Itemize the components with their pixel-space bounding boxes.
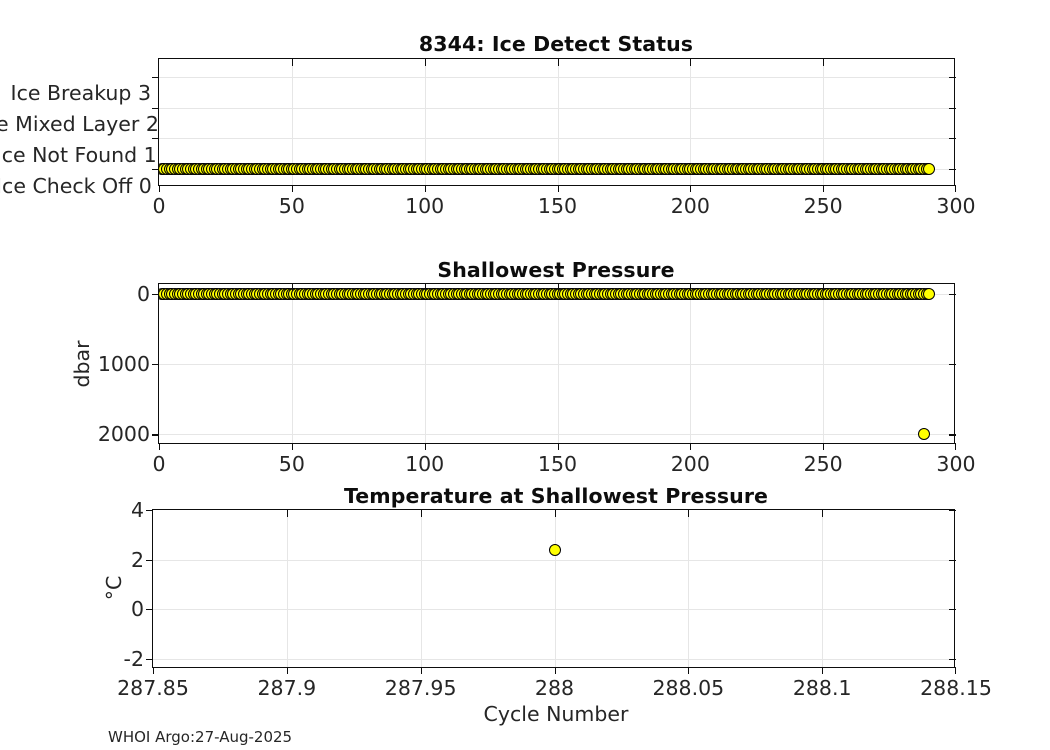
xtick-mark <box>153 667 154 674</box>
ytick-mark <box>152 364 159 365</box>
subplot3-yaxis-title: °C <box>102 576 126 601</box>
xtick-label: 250 <box>804 452 843 476</box>
ytick-mark <box>152 434 159 435</box>
xtick-mark <box>425 443 426 450</box>
xtick-mark <box>558 185 559 192</box>
subplot1-title: 8344: Ice Detect Status <box>419 32 693 56</box>
data-point-marker <box>923 163 935 175</box>
xtick-mark <box>690 59 691 66</box>
xtick-label: 287.95 <box>385 676 457 700</box>
xtick-label: 50 <box>279 452 305 476</box>
ytick-mark <box>949 108 956 109</box>
xtick-label: 200 <box>671 194 710 218</box>
xtick-mark <box>690 443 691 450</box>
xtick-label: 50 <box>279 194 305 218</box>
xtick-label: 0 <box>152 194 165 218</box>
xtick-mark <box>823 59 824 66</box>
ytick-label: -2 <box>124 647 144 671</box>
xtick-mark <box>690 185 691 192</box>
ytick-mark <box>949 169 956 170</box>
xtick-mark <box>823 443 824 450</box>
subplot2-yaxis-title: dbar <box>70 340 94 387</box>
xtick-mark <box>823 185 824 192</box>
ytick-mark <box>146 560 153 561</box>
xtick-mark <box>425 185 426 192</box>
ytick-mark <box>949 364 956 365</box>
ytick-mark <box>949 510 956 511</box>
xtick-mark <box>955 667 956 674</box>
data-point-marker <box>918 428 930 440</box>
ytick-mark <box>949 138 956 139</box>
xaxis-title: Cycle Number <box>484 702 629 726</box>
ytick-mark <box>949 560 956 561</box>
data-series <box>159 59 954 185</box>
xtick-mark <box>421 667 422 674</box>
ytick-mark <box>146 510 153 511</box>
ytick-label: 0 <box>131 597 144 621</box>
xtick-mark <box>287 667 288 674</box>
ytick-mark <box>146 659 153 660</box>
ytick-mark <box>949 609 956 610</box>
xtick-label: 300 <box>936 452 975 476</box>
subplot1-axes: 050100150200250300 <box>158 58 955 186</box>
ytick-mark <box>152 108 159 109</box>
data-point-marker <box>549 544 561 556</box>
xtick-mark <box>688 510 689 517</box>
subplot2-axes: 010002000050100150200250300 <box>158 283 955 444</box>
xtick-mark <box>292 185 293 192</box>
ytick-mark <box>152 138 159 139</box>
xtick-mark <box>955 185 956 192</box>
data-series <box>159 284 954 443</box>
ytick-label: 2 <box>131 548 144 572</box>
xtick-mark <box>425 59 426 66</box>
ytick-mark <box>949 434 956 435</box>
ytick-mark <box>949 659 956 660</box>
xtick-mark <box>159 443 160 450</box>
xtick-label: 288 <box>535 676 574 700</box>
subplot1-ytick-label-1: lce Not Found 1 <box>0 143 151 167</box>
ytick-mark <box>152 169 159 170</box>
subplot1-ytick-label-0: Ice Check Off 0 <box>0 174 151 198</box>
xtick-label: 288.15 <box>920 676 992 700</box>
xtick-label: 100 <box>405 194 444 218</box>
figure-footer: WHOI Argo:27-Aug-2025 <box>108 728 292 746</box>
xtick-label: 287.85 <box>117 676 189 700</box>
ytick-mark <box>949 77 956 78</box>
xtick-label: 150 <box>538 452 577 476</box>
subplot1-ytick-label-3: Ice Breakup 3 <box>0 81 151 105</box>
xtick-label: 288.1 <box>793 676 852 700</box>
xtick-mark <box>287 510 288 517</box>
xtick-mark <box>425 284 426 291</box>
xtick-mark <box>555 510 556 517</box>
ytick-mark <box>949 294 956 295</box>
xtick-label: 250 <box>804 194 843 218</box>
xtick-mark <box>823 284 824 291</box>
xtick-label: 0 <box>152 452 165 476</box>
xtick-mark <box>822 510 823 517</box>
xtick-mark <box>558 59 559 66</box>
data-series <box>153 510 954 667</box>
xtick-label: 288.05 <box>652 676 724 700</box>
ytick-mark <box>152 294 159 295</box>
subplot3-title: Temperature at Shallowest Pressure <box>344 484 768 508</box>
ytick-label: 4 <box>131 498 144 522</box>
xtick-mark <box>292 59 293 66</box>
xtick-label: 287.9 <box>257 676 316 700</box>
subplot3-plot-area <box>153 510 954 667</box>
xtick-mark <box>822 667 823 674</box>
xtick-mark <box>555 667 556 674</box>
xtick-mark <box>558 284 559 291</box>
xtick-label: 300 <box>936 194 975 218</box>
subplot1-ytick-label-2: e Mixed Layer 2 <box>0 112 151 136</box>
xtick-label: 100 <box>405 452 444 476</box>
ytick-label: 2000 <box>98 422 150 446</box>
data-point-marker <box>923 288 935 300</box>
subplot2-plot-area <box>159 284 954 443</box>
xtick-mark <box>421 510 422 517</box>
subplot2-title: Shallowest Pressure <box>437 258 674 282</box>
xtick-mark <box>159 185 160 192</box>
ytick-mark <box>146 609 153 610</box>
xtick-mark <box>690 284 691 291</box>
xtick-mark <box>292 284 293 291</box>
xtick-mark <box>955 443 956 450</box>
ytick-label: 1000 <box>98 352 150 376</box>
subplot3-axes: -2024287.85287.9287.95288288.05288.1288.… <box>152 509 955 668</box>
matlab-figure: 8344: Ice Detect Status 0501001502002503… <box>0 0 1050 750</box>
xtick-mark <box>688 667 689 674</box>
xtick-mark <box>558 443 559 450</box>
xtick-mark <box>292 443 293 450</box>
ytick-mark <box>152 77 159 78</box>
xtick-label: 200 <box>671 452 710 476</box>
ytick-label: 0 <box>137 282 150 306</box>
xtick-label: 150 <box>538 194 577 218</box>
subplot1-plot-area <box>159 59 954 185</box>
